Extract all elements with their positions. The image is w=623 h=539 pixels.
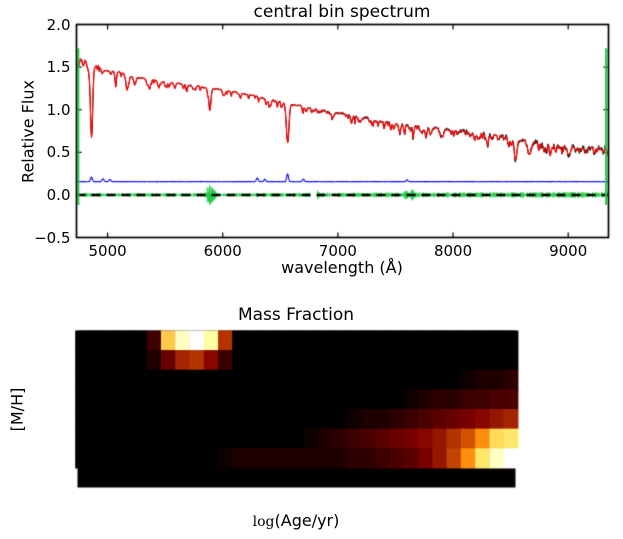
heatmap-panel-title: Mass Fraction [77,305,515,325]
tick-label: 0.0 [11,186,71,204]
mass-fraction-heatmap-canvas [0,0,623,539]
tick-label: 7000 [308,242,368,260]
tick-label: 9000 [538,242,598,260]
tick-label: −0.5 [11,229,71,247]
tick-label: 0.5 [11,143,71,161]
heatmap-x-axis-label: log(Age/yr) [77,511,515,530]
tick-label: 2.0 [11,16,71,34]
tick-label: 6000 [193,242,253,260]
tick-label: 8000 [423,242,483,260]
tick-label: 5000 [78,242,138,260]
tick-label: 1.0 [11,101,71,119]
heatmap-x-label-suffix: (Age/yr) [275,511,340,530]
figure-container: central bin spectrum wavelength (Å) Rela… [0,0,623,539]
heatmap-x-label-log-prefix: log [253,514,275,530]
heatmap-y-axis-label: [M/H] [8,360,27,460]
tick-label: 1.5 [11,58,71,76]
